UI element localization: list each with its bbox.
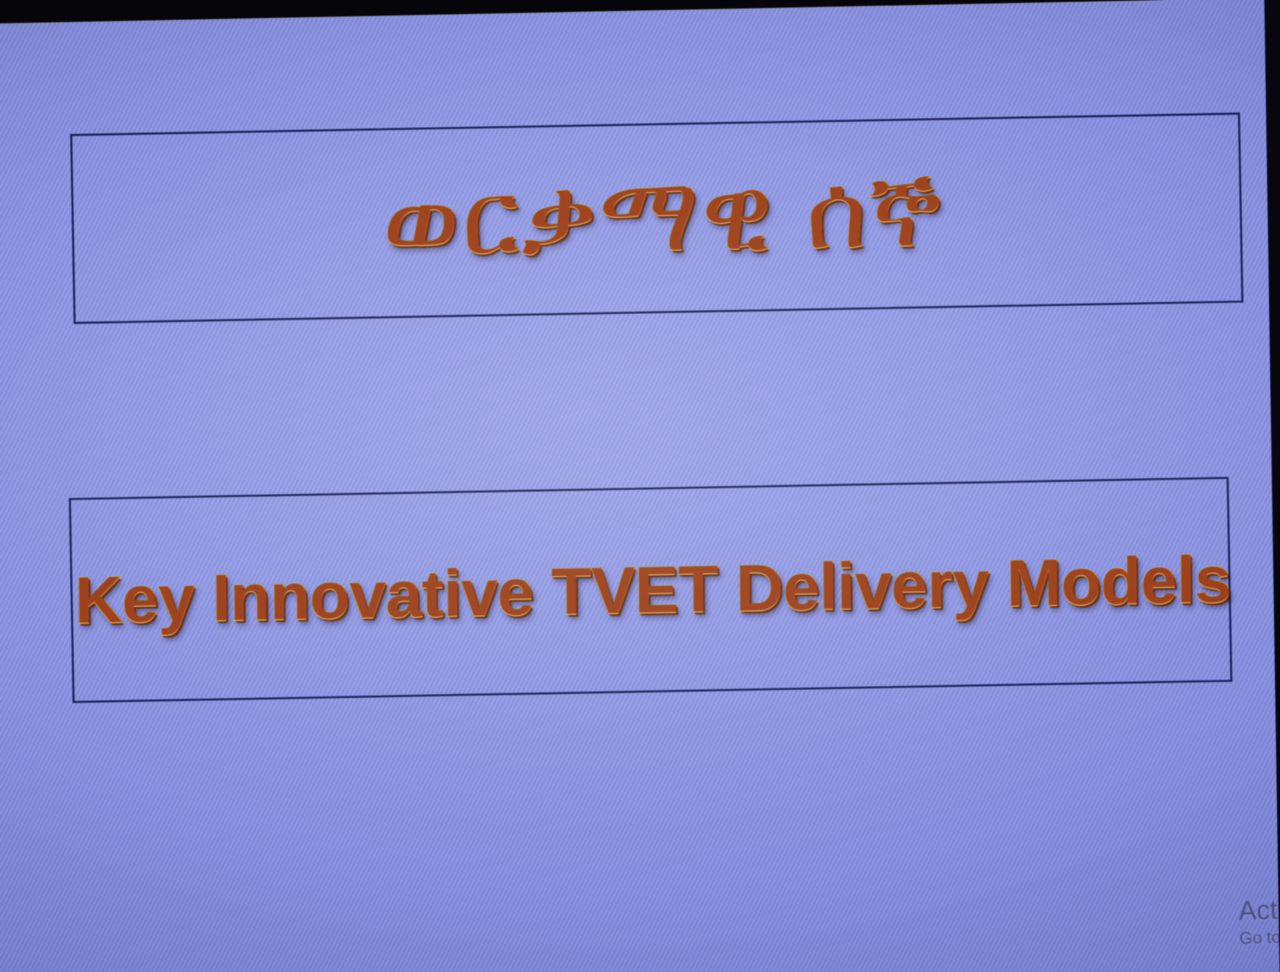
windows-activation-watermark: Activate Windo Go to Settings to a <box>1238 890 1280 950</box>
slide-title-amharic: ወርቃማዊ ሰኞ <box>381 156 944 275</box>
activation-watermark-title: Activate Windo <box>1238 890 1280 926</box>
subtitle-text-box: Key Innovative TVET Delivery Models <box>69 477 1233 703</box>
slide-background: ወርቃማዊ ሰኞ Key Innovative TVET Delivery Mo… <box>0 0 1280 972</box>
title-text-box: ወርቃማዊ ሰኞ <box>70 113 1243 324</box>
slide-subtitle-english: Key Innovative TVET Delivery Models <box>74 545 1231 635</box>
projected-slide-photo: ወርቃማዊ ሰኞ Key Innovative TVET Delivery Mo… <box>0 0 1280 972</box>
activation-watermark-subtitle: Go to Settings to a <box>1239 924 1280 951</box>
